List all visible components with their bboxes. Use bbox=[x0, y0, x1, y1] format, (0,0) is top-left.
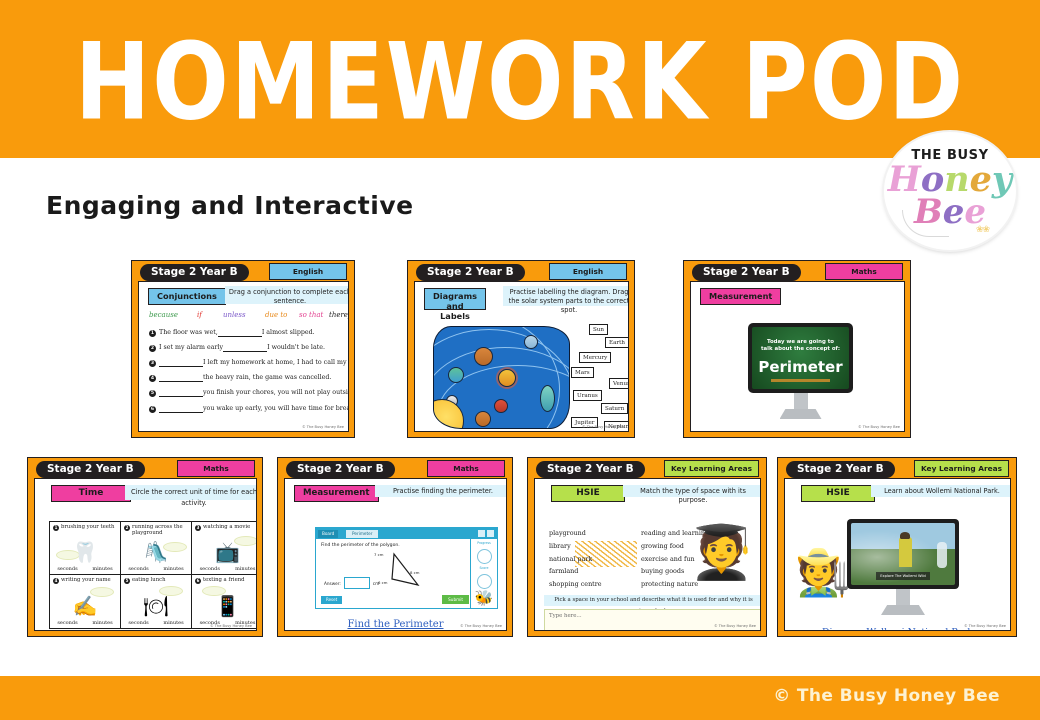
drag-label-saturn[interactable]: Saturn bbox=[601, 403, 628, 414]
screen-line-1: Today we are going to bbox=[752, 339, 849, 346]
sentence-text: the heavy rain, the game was cancelled. bbox=[159, 374, 331, 381]
answer-row[interactable]: Answer: cm bbox=[324, 577, 379, 589]
sentence-row[interactable]: 6 you wake up early, you will have time … bbox=[149, 403, 349, 418]
activity-cell[interactable]: 4 writing your name ✍ secondsminutes bbox=[50, 575, 121, 628]
activity-illustration: ✍ bbox=[73, 597, 98, 617]
sentence-text: you wake up early, you will have time fo… bbox=[159, 405, 349, 412]
stage-pill: Stage 2 Year B bbox=[36, 461, 145, 478]
cell-number: 1 bbox=[53, 525, 59, 531]
video-monitor[interactable]: Today we are going to talk about the con… bbox=[748, 323, 853, 423]
topic-badge: Conjunctions bbox=[148, 288, 226, 305]
sentence-row[interactable]: 1 The floor was wet,I almost slipped. bbox=[149, 327, 349, 342]
activity-cell[interactable]: 5 eating lunch 🍽 secondsminutes bbox=[121, 575, 192, 628]
row-number: 5 bbox=[149, 390, 156, 397]
logo-swirl-decoration bbox=[902, 210, 949, 237]
video-monitor[interactable]: Explore The Wollemi Wild bbox=[847, 519, 959, 623]
card-body: Diagrams and Labels Practise labelling t… bbox=[414, 281, 629, 432]
video-caption: Explore The Wollemi Wild bbox=[876, 572, 930, 580]
unit-minutes[interactable]: minutes bbox=[92, 620, 112, 626]
score-dial bbox=[477, 574, 492, 589]
stage-pill: Stage 2 Year B bbox=[286, 461, 395, 478]
answer-blank[interactable] bbox=[218, 329, 262, 337]
row-number: 2 bbox=[149, 345, 156, 352]
unit-seconds[interactable]: seconds bbox=[128, 566, 148, 572]
activity-cell[interactable]: 3 watching a movie 📺 secondsminutes bbox=[192, 522, 257, 575]
unit-minutes[interactable]: minutes bbox=[92, 566, 112, 572]
mascot-icon: 🐝 bbox=[471, 591, 497, 607]
answer-blank[interactable] bbox=[159, 374, 203, 382]
kla-badge-key-learning-areas: Key Learning Areas bbox=[664, 460, 759, 477]
unit-options[interactable]: secondsminutes bbox=[192, 566, 257, 572]
card-hsie-wollemi[interactable]: Stage 2 Year B Key Learning Areas HSIE L… bbox=[777, 457, 1017, 637]
answer-label: Answer: bbox=[324, 581, 341, 586]
planet-venus-icon[interactable] bbox=[475, 411, 491, 427]
sentence-row[interactable]: 5 you finish your chores, you will not p… bbox=[149, 388, 349, 403]
sentence-text: I left my homework at home, I had to cal… bbox=[159, 359, 349, 366]
card-body: HSIE Learn about Wollemi National Park. … bbox=[784, 478, 1011, 631]
answer-blank[interactable] bbox=[159, 359, 203, 367]
card-conjunctions[interactable]: Stage 2 Year B English Conjunctions Drag… bbox=[131, 260, 355, 438]
answer-blank[interactable] bbox=[159, 389, 203, 397]
row-number: 1 bbox=[149, 330, 156, 337]
card-perimeter-video[interactable]: Stage 2 Year B Maths Measurement Today w… bbox=[683, 260, 911, 438]
monitor-neck bbox=[896, 589, 910, 605]
space-type-list[interactable]: playground library national park farmlan… bbox=[549, 527, 602, 591]
planet-earth-icon[interactable] bbox=[448, 367, 464, 383]
unit-options[interactable]: secondsminutes bbox=[121, 566, 191, 572]
tiny-copyright: © The Busy Honey Bee bbox=[210, 624, 252, 628]
kla-badge-english: English bbox=[269, 263, 347, 280]
drag-label-uranus[interactable]: Uranus bbox=[573, 390, 602, 401]
side-label: 7 cm bbox=[374, 552, 383, 557]
conjunction-word-bank[interactable]: because if unless due to so that therefo… bbox=[149, 311, 349, 322]
answer-unit: cm bbox=[373, 581, 379, 586]
conjunction-chip[interactable]: because bbox=[149, 311, 178, 319]
activity-label: watching a movie bbox=[203, 524, 257, 530]
drag-label-sun[interactable]: Sun bbox=[589, 324, 608, 335]
card-body: Measurement Practise finding the perimet… bbox=[284, 478, 507, 631]
unit-minutes[interactable]: minutes bbox=[163, 620, 183, 626]
reflection-prompt: Pick a space in your school and describe… bbox=[544, 595, 761, 606]
card-diagrams-labels[interactable]: Stage 2 Year B English Diagrams and Labe… bbox=[407, 260, 635, 438]
answer-blank[interactable] bbox=[159, 405, 203, 413]
kla-badge-english: English bbox=[549, 263, 627, 280]
kla-badge-key-learning-areas: Key Learning Areas bbox=[914, 460, 1009, 477]
drag-label-mars[interactable]: Mars bbox=[571, 367, 594, 378]
list-item[interactable]: shopping centre bbox=[549, 578, 602, 591]
unit-minutes[interactable]: minutes bbox=[235, 566, 255, 572]
card-body: Time Circle the correct unit of time for… bbox=[34, 478, 257, 631]
applet-titlebar bbox=[316, 528, 497, 539]
the-busy-honey-bee-logo: THE BUSY Honey Bee ❀❀ bbox=[884, 132, 1016, 250]
sentence-text: you finish your chores, you will not pla… bbox=[159, 389, 349, 396]
minimize-icon bbox=[478, 530, 485, 537]
ranger-hat-on-screen bbox=[900, 532, 910, 539]
cell-number: 5 bbox=[124, 578, 130, 584]
cell-number: 3 bbox=[195, 525, 201, 531]
submit-button[interactable]: Submit bbox=[442, 595, 469, 604]
cell-number: 6 bbox=[195, 578, 201, 584]
row-number: 3 bbox=[149, 360, 156, 367]
instruction-text: Practise finding the perimeter. bbox=[375, 485, 507, 497]
tiny-copyright: © The Busy Honey Bee bbox=[582, 425, 624, 429]
stage-pill: Stage 2 Year B bbox=[536, 461, 645, 478]
planet-jupiter-icon[interactable] bbox=[474, 347, 493, 366]
monitor-bezel: Explore The Wollemi Wild bbox=[847, 519, 959, 589]
card-hsie-match[interactable]: Stage 2 Year B Key Learning Areas HSIE M… bbox=[527, 457, 767, 637]
tiny-copyright: © The Busy Honey Bee bbox=[302, 425, 344, 429]
monitor-bezel: Today we are going to talk about the con… bbox=[748, 323, 853, 393]
stage-pill: Stage 2 Year B bbox=[692, 264, 801, 281]
list-item[interactable]: playground bbox=[549, 527, 602, 540]
sentence-list: 1 The floor was wet,I almost slipped. 2 … bbox=[149, 327, 349, 418]
perimeter-applet[interactable]: Board Perimeter Find the perimeter of th… bbox=[315, 527, 498, 609]
card-body: Measurement Today we are going to talk a… bbox=[690, 281, 905, 432]
activity-cell[interactable]: 1 brushing your teeth 🦷 secondsminutes bbox=[50, 522, 121, 575]
list-item[interactable]: national park bbox=[549, 553, 602, 566]
drag-label-earth[interactable]: Earth bbox=[605, 337, 629, 348]
activity-illustration: 🛝 bbox=[144, 543, 169, 563]
close-icon bbox=[487, 530, 494, 537]
logo-honeycomb-icon: ❀❀ bbox=[976, 224, 989, 235]
activity-label: running across the playground bbox=[132, 524, 189, 536]
activity-label: eating lunch bbox=[132, 577, 189, 583]
stage-pill: Stage 2 Year B bbox=[416, 264, 525, 281]
footer-banner: © The Busy Honey Bee bbox=[0, 676, 1040, 720]
footer-copyright: © The Busy Honey Bee bbox=[773, 686, 1000, 706]
tiny-copyright: © The Busy Honey Bee bbox=[460, 624, 502, 628]
topic-badge: Diagrams and Labels bbox=[424, 288, 486, 310]
instruction-text: Practise labelling the diagram. Drag the… bbox=[503, 286, 629, 306]
row-number: 4 bbox=[149, 375, 156, 382]
row-number: 6 bbox=[149, 406, 156, 413]
sentence-row[interactable]: 4 the heavy rain, the game was cancelled… bbox=[149, 373, 349, 388]
page-title: HOMEWORK POD bbox=[0, 24, 1040, 142]
side-panel-label: Progress bbox=[471, 541, 497, 545]
answer-blank[interactable] bbox=[223, 344, 267, 352]
kla-badge-maths: Maths bbox=[177, 460, 255, 477]
video-link[interactable]: Perimeter bbox=[691, 430, 904, 432]
subtitle: Engaging and Interactive bbox=[46, 191, 414, 220]
activity-label: brushing your teeth bbox=[61, 524, 118, 530]
monitor-screen: Today we are going to talk about the con… bbox=[752, 327, 849, 389]
kla-badge-maths: Maths bbox=[427, 460, 505, 477]
drag-label-venus[interactable]: Venus bbox=[609, 378, 629, 389]
activity-illustration: 🍽 bbox=[143, 597, 168, 617]
card-body: HSIE Match the type of space with its pu… bbox=[534, 478, 761, 631]
conjunction-chip[interactable]: if bbox=[197, 311, 202, 319]
list-item[interactable]: library bbox=[549, 540, 602, 553]
kla-badge-maths: Maths bbox=[825, 263, 903, 280]
unit-seconds[interactable]: seconds bbox=[57, 620, 77, 626]
activity-illustration: 📺 bbox=[215, 543, 240, 563]
topic-badge: HSIE bbox=[801, 485, 875, 502]
applet-side-panel: Progress Score 🐝 bbox=[470, 539, 497, 608]
instruction-text: Circle the correct unit of time for each… bbox=[125, 485, 257, 500]
monitor-screen: Explore The Wollemi Wild bbox=[851, 523, 955, 585]
screen-line-2: talk about the concept of: bbox=[752, 346, 849, 353]
planet-mars-icon[interactable] bbox=[494, 399, 508, 413]
instruction-text: Learn about Wollemi National Park. bbox=[871, 485, 1011, 497]
side-label: 8 cm bbox=[410, 570, 419, 575]
applet-window-buttons[interactable] bbox=[478, 530, 494, 537]
planet-uranus-icon[interactable] bbox=[524, 335, 538, 349]
topic-badge: HSIE bbox=[551, 485, 625, 502]
cell-number: 2 bbox=[124, 525, 130, 531]
planet-label-bank[interactable]: Sun Earth Mercury Mars Venus Uranus Satu… bbox=[571, 322, 629, 430]
activity-label: texting a friend bbox=[203, 577, 257, 583]
solar-system-diagram[interactable] bbox=[433, 326, 570, 429]
unit-seconds[interactable]: seconds bbox=[200, 566, 220, 572]
tiny-copyright: © The Busy Honey Bee bbox=[714, 624, 756, 628]
planet-neptune-icon[interactable] bbox=[540, 385, 555, 412]
conjunction-chip[interactable]: therefore bbox=[329, 311, 349, 319]
ranger-illustration: 🧑‍🌾 bbox=[795, 549, 852, 595]
drag-label-mercury[interactable]: Mercury bbox=[579, 352, 611, 363]
card-find-perimeter[interactable]: Stage 2 Year B Maths Measurement Practis… bbox=[277, 457, 513, 637]
activity-cell[interactable]: 2 running across the playground 🛝 second… bbox=[121, 522, 192, 575]
card-time[interactable]: Stage 2 Year B Maths Time Circle the cor… bbox=[27, 457, 263, 637]
unit-seconds[interactable]: seconds bbox=[128, 620, 148, 626]
side-panel-label: Score bbox=[471, 566, 497, 570]
stage-pill: Stage 2 Year B bbox=[140, 264, 249, 281]
topic-badge: Time bbox=[51, 485, 131, 502]
tiny-copyright: © The Busy Honey Bee bbox=[964, 624, 1006, 628]
activity-label: writing your name bbox=[61, 577, 118, 583]
student-illustration: 🧑‍🎓 bbox=[689, 527, 754, 579]
unit-minutes[interactable]: minutes bbox=[163, 566, 183, 572]
progress-dial bbox=[477, 549, 492, 564]
applet-tab-active[interactable]: Board bbox=[318, 530, 338, 538]
ranger-on-screen bbox=[899, 537, 912, 567]
activity-illustration: 🦷 bbox=[73, 543, 98, 563]
screen-keyword: Perimeter bbox=[752, 358, 849, 376]
unit-options[interactable]: secondsminutes bbox=[121, 620, 191, 626]
answer-input[interactable] bbox=[344, 577, 370, 589]
card-body: Conjunctions Drag a conjunction to compl… bbox=[138, 281, 349, 432]
sentence-row[interactable]: 2 I set my alarm earlyI wouldn't be late… bbox=[149, 342, 349, 357]
conjunction-chip[interactable]: due to bbox=[265, 311, 287, 319]
sentence-text: I set my alarm earlyI wouldn't be late. bbox=[159, 344, 325, 351]
topic-badge: Measurement bbox=[294, 485, 379, 502]
activity-grid: 1 brushing your teeth 🦷 secondsminutes 2… bbox=[49, 521, 257, 629]
side-label: 6 cm bbox=[378, 580, 387, 585]
unit-seconds[interactable]: seconds bbox=[57, 566, 77, 572]
monitor-base bbox=[881, 605, 925, 615]
activity-cell[interactable]: 6 texting a friend 📱 secondsminutes bbox=[192, 575, 257, 628]
activity-illustration: 📱 bbox=[215, 597, 240, 617]
conjunction-chip[interactable]: so that bbox=[299, 311, 323, 319]
conjunction-chip[interactable]: unless bbox=[223, 311, 246, 319]
instruction-text: Drag a conjunction to complete each sent… bbox=[225, 286, 349, 304]
planet-saturn-icon[interactable] bbox=[498, 369, 516, 387]
list-item[interactable]: farmland bbox=[549, 565, 602, 578]
applet-tab-inactive[interactable]: Perimeter bbox=[346, 530, 378, 538]
cell-number: 4 bbox=[53, 578, 59, 584]
reset-button[interactable]: Reset bbox=[321, 596, 342, 604]
stage-pill: Stage 2 Year B bbox=[786, 461, 895, 478]
monitor-neck bbox=[794, 393, 808, 409]
sentence-row[interactable]: 3 I left my homework at home, I had to c… bbox=[149, 357, 349, 372]
tiny-copyright: © The Busy Honey Bee bbox=[858, 425, 900, 429]
slide-page: HOMEWORK POD Engaging and Interactive TH… bbox=[0, 0, 1040, 720]
sentence-text: The floor was wet,I almost slipped. bbox=[159, 329, 315, 336]
unit-options[interactable]: secondsminutes bbox=[50, 566, 120, 572]
applet-question: Find the perimeter of the polygon. bbox=[321, 543, 400, 548]
header-banner: HOMEWORK POD bbox=[0, 0, 1040, 158]
unit-options[interactable]: secondsminutes bbox=[50, 620, 120, 626]
topic-badge: Measurement bbox=[700, 288, 781, 305]
monitor-base bbox=[780, 409, 822, 419]
waterfall-on-screen bbox=[937, 542, 947, 568]
screen-underline-bar bbox=[771, 379, 829, 382]
instruction-text: Match the type of space with its purpose… bbox=[623, 485, 761, 497]
